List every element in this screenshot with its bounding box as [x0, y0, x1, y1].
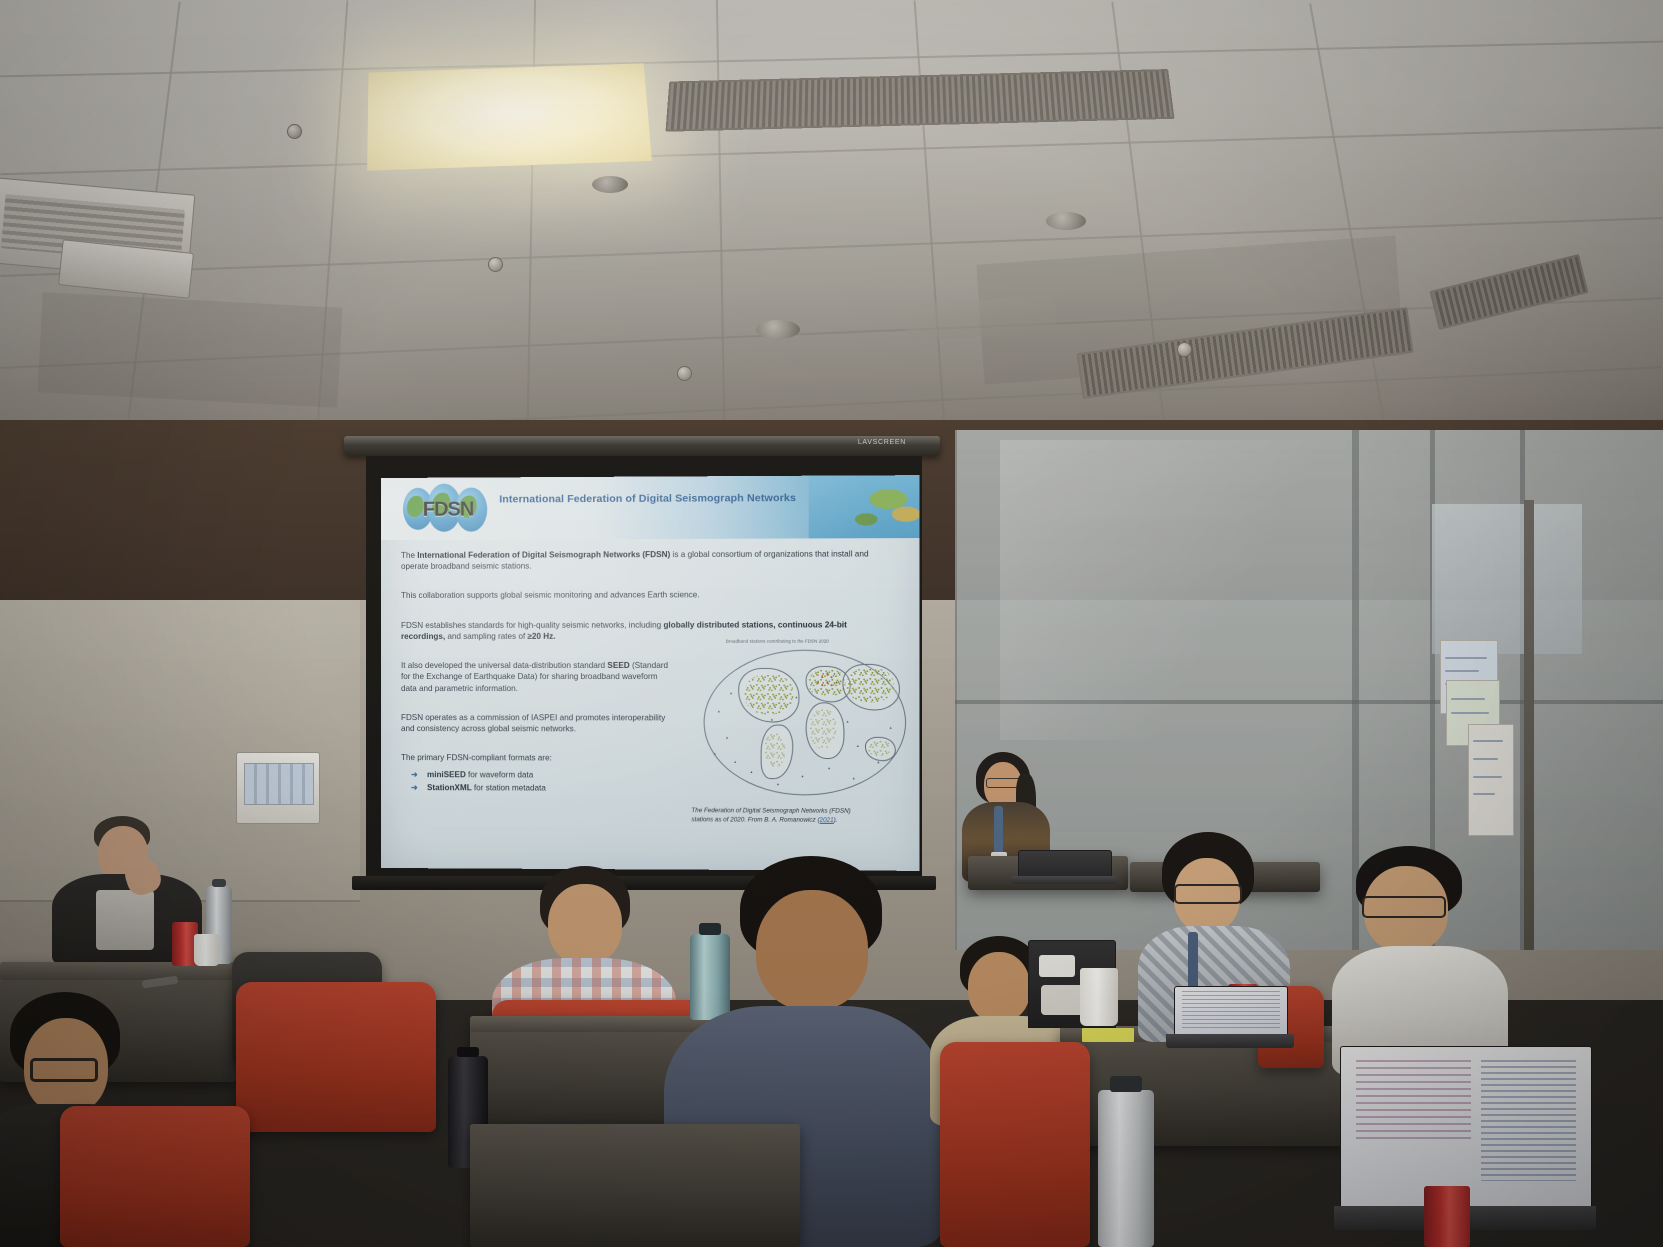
- slide-header-band: FDSN International Federation of Digital…: [381, 475, 919, 540]
- format-bullet-item: ➜StationXML for station metadata: [401, 781, 683, 795]
- caption-citation-link[interactable]: 2021: [820, 816, 834, 823]
- slide-body: The International Federation of Digital …: [401, 548, 900, 864]
- format-bullet-item: ➜miniSEED for waveform data: [401, 768, 683, 782]
- water-bottle-foreground: [1098, 1090, 1154, 1247]
- chair-red-bottom-right: [940, 1042, 1090, 1247]
- attendee-woman-glasses: [1174, 884, 1242, 904]
- screen-brand-label: LAVSCREEN: [858, 439, 906, 446]
- laptop-screen-content-left: [1356, 1060, 1471, 1143]
- door-frame-right: [1524, 500, 1534, 950]
- coffee-cup-right: [1080, 968, 1118, 1026]
- laptop-right-open: [1166, 986, 1294, 1048]
- ceiling-speaker-2: [756, 320, 800, 339]
- world-map-graphic: Broadband stations contributing to the F…: [704, 648, 904, 800]
- arrow-bullet-icon: ➜: [411, 768, 418, 781]
- paragraph-collaboration: This collaboration supports global seism…: [401, 589, 877, 601]
- window-far-building: [1432, 504, 1582, 654]
- presenter-lanyard: [994, 806, 1003, 858]
- chair-red-left: [236, 982, 436, 1132]
- presenter-laptop: [1012, 850, 1116, 884]
- fdsn-logo-text: FDSN: [409, 497, 487, 521]
- slide-header-title: International Federation of Digital Seis…: [499, 492, 803, 506]
- poster-3: [1468, 724, 1514, 836]
- laptop-sticker-nasa: [1039, 955, 1075, 977]
- paragraph-seed: It also developed the universal data-dis…: [401, 660, 673, 694]
- attendee-left-shirt-graphic: [96, 890, 154, 950]
- chair-red-left-lower: [60, 1106, 250, 1247]
- ceiling-speaker-1: [592, 176, 628, 193]
- sprinkler-head-4: [1177, 342, 1192, 357]
- map-caption: The Federation of Digital Seismograph Ne…: [691, 807, 904, 825]
- attendee-woman-lanyard: [1188, 932, 1198, 990]
- sprinkler-head-3: [677, 366, 692, 381]
- soda-can-foreground: [1424, 1186, 1470, 1247]
- projector-screen-case: LAVSCREEN: [344, 436, 940, 456]
- laptop-screen-content-right: [1481, 1060, 1576, 1182]
- sprinkler-head-1: [287, 124, 302, 139]
- conference-room-photo: LAVSCREEN FDSN International Federation …: [0, 0, 1663, 1247]
- sticky-notepad: [1082, 1028, 1134, 1042]
- table-foreground-bottom: [470, 1124, 800, 1247]
- glass-reflection: [1000, 440, 1380, 740]
- ceiling-tile-grid: [0, 0, 1663, 470]
- attendee-man-right-glasses: [1362, 896, 1446, 918]
- header-map-graphic: [809, 475, 920, 538]
- attendee-man-right: [1332, 846, 1508, 1076]
- ceiling-speaker-3: [1046, 212, 1086, 230]
- presentation-slide: FDSN International Federation of Digital…: [381, 475, 919, 871]
- ceiling-light-main: [367, 63, 652, 170]
- sprinkler-head-2: [488, 257, 503, 272]
- arrow-bullet-icon: ➜: [411, 781, 418, 794]
- attendee-front-left-glasses: [30, 1058, 98, 1082]
- paper-cup-left: [194, 934, 220, 966]
- paragraph-iaspei: FDSN operates as a commission of IASPEI …: [401, 712, 681, 735]
- formats-bullet-list: ➜miniSEED for waveform data➜StationXML f…: [401, 768, 683, 795]
- paragraph-intro: The International Federation of Digital …: [401, 548, 877, 572]
- wall-control-panel[interactable]: [236, 752, 320, 824]
- map-title-label: Broadband stations contributing to the F…: [726, 639, 829, 644]
- ceiling: [0, 0, 1663, 470]
- formats-intro-text: The primary FDSN-compliant formats are:: [401, 752, 683, 764]
- fdsn-logo: FDSN: [403, 483, 491, 535]
- laptop-sticker-round: [1041, 985, 1085, 1015]
